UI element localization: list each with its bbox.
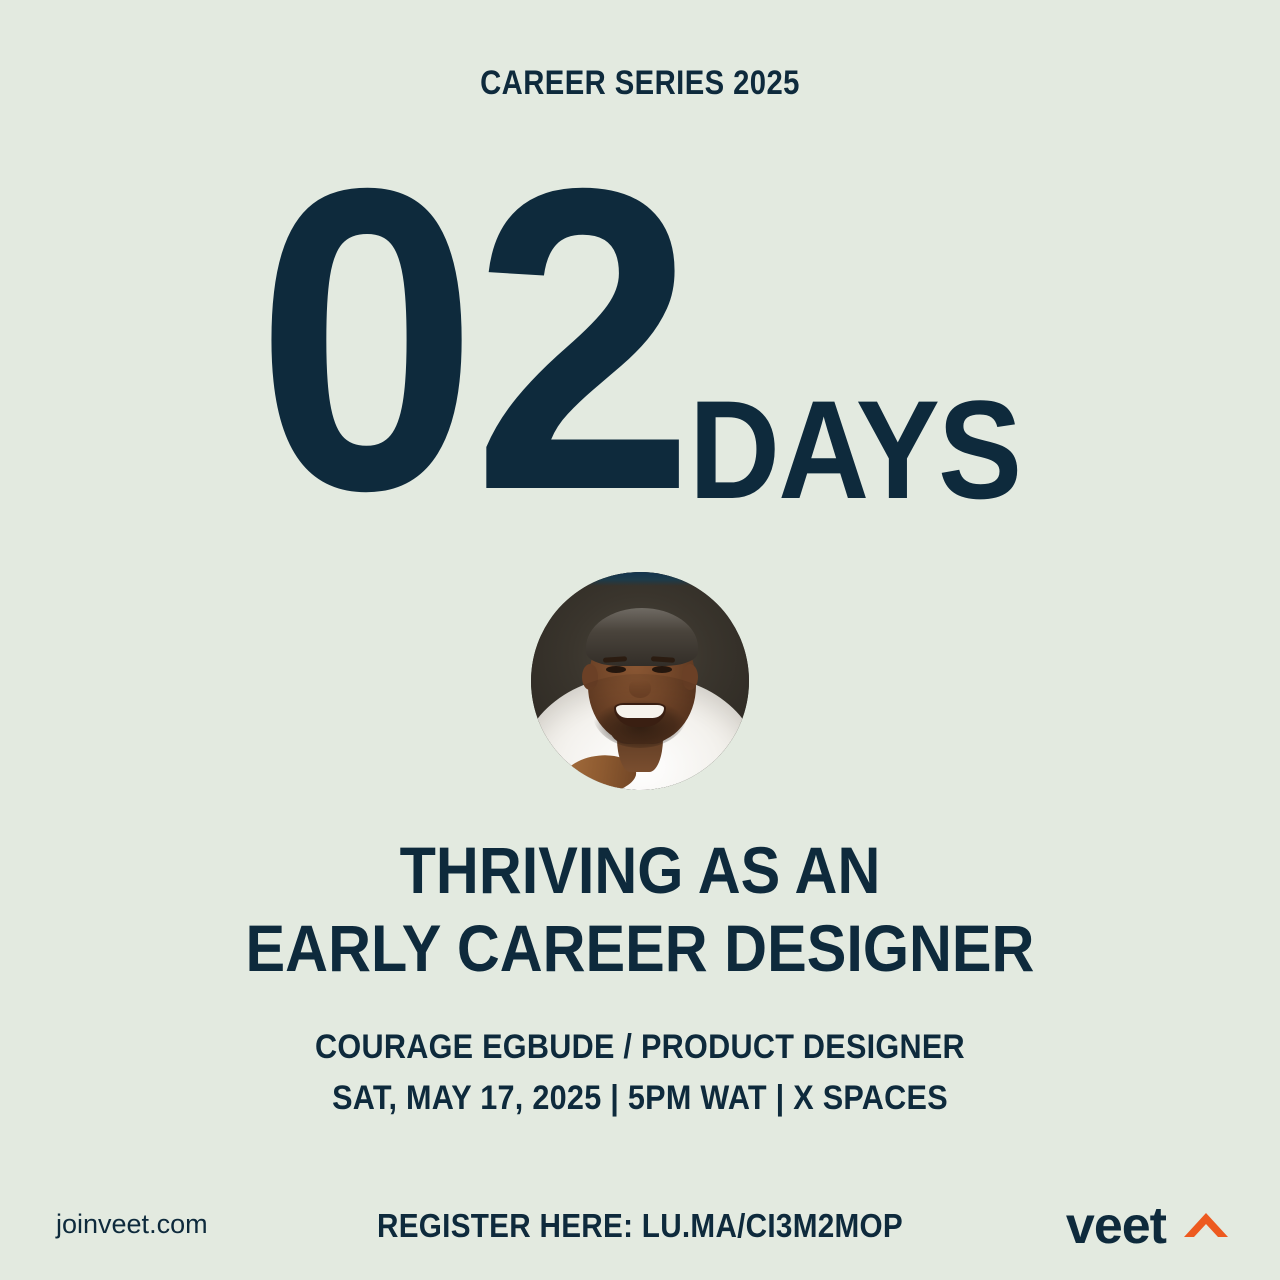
avatar bbox=[531, 572, 749, 790]
speaker-credit: COURAGE EGBUDE / PRODUCT DESIGNER bbox=[64, 1022, 1216, 1073]
poster-canvas: CAREER SERIES 2025 02 DAYS bbox=[0, 0, 1280, 1280]
avatar-eye-right bbox=[652, 666, 672, 673]
brand-logo: veet bbox=[1066, 1200, 1232, 1252]
event-schedule: SAT, MAY 17, 2025 | 5PM WAT | X SPACES bbox=[64, 1073, 1216, 1124]
avatar-photo bbox=[531, 572, 749, 790]
chevron-up-icon bbox=[1180, 1207, 1232, 1246]
avatar-eye-left bbox=[606, 666, 626, 673]
avatar-backdrop-top-band bbox=[531, 572, 749, 586]
title-line-1: THRIVING AS AN bbox=[64, 832, 1216, 910]
countdown-unit-label: DAYS bbox=[689, 395, 1020, 508]
page-title: THRIVING AS AN EARLY CAREER DESIGNER bbox=[0, 832, 1280, 988]
countdown-number: 02 bbox=[255, 173, 689, 508]
brand-wordmark: veet bbox=[1066, 1200, 1166, 1252]
title-line-2: EARLY CAREER DESIGNER bbox=[64, 910, 1216, 988]
countdown-block: 02 DAYS bbox=[0, 178, 1280, 508]
event-details: COURAGE EGBUDE / PRODUCT DESIGNER SAT, M… bbox=[0, 1022, 1280, 1124]
register-link[interactable]: REGISTER HERE: LU.MA/CI3M2MOP bbox=[64, 1207, 1216, 1245]
series-kicker: CAREER SERIES 2025 bbox=[90, 64, 1191, 103]
